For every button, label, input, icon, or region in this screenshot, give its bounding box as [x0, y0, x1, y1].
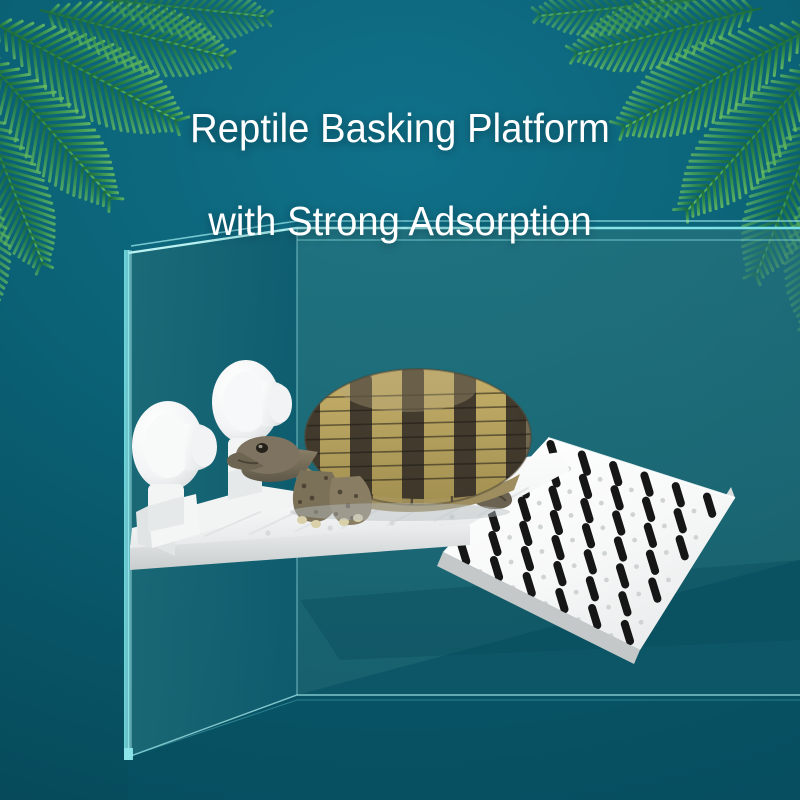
- ramp-dimple: [570, 538, 575, 543]
- ramp-dimple: [639, 620, 644, 625]
- title-line-1: Reptile Basking Platform: [28, 105, 772, 152]
- ramp-dimple: [629, 488, 634, 493]
- ramp-dimple: [632, 538, 637, 543]
- ramp-dimple: [692, 509, 697, 514]
- ramp-dimple: [572, 563, 577, 568]
- title-line-2: with Strong Adsorption: [28, 198, 772, 245]
- ramp-dimple: [664, 550, 669, 555]
- ramp-dimple: [662, 524, 667, 529]
- ramp-dimple: [598, 477, 603, 482]
- ramp-dimple: [599, 501, 604, 506]
- ramp-dimple: [660, 498, 665, 503]
- ramp-dimple: [604, 578, 609, 583]
- ramp-dimple: [537, 501, 542, 506]
- ramp-dimple: [540, 549, 545, 554]
- ramp-dimple: [569, 513, 574, 518]
- ramp-dimple: [507, 535, 512, 540]
- ramp-dimple: [630, 512, 635, 517]
- ramp-dimple: [541, 575, 546, 580]
- page-title: Reptile Basking Platform with Strong Ads…: [0, 58, 800, 292]
- ramp-dimple: [666, 578, 671, 583]
- ramp-dimple: [634, 564, 639, 569]
- ramp-dimple: [606, 605, 611, 610]
- ramp-dimple: [602, 551, 607, 556]
- ramp-dimple: [636, 592, 641, 597]
- ramp-dimple: [574, 590, 579, 595]
- product-banner: Reptile Basking Platform with Strong Ads…: [0, 0, 800, 800]
- ramp-dimple: [600, 525, 605, 530]
- ramp-dimple: [567, 489, 572, 494]
- ramp-dimple: [538, 525, 543, 530]
- ramp-dimple: [694, 535, 699, 540]
- ramp-dimple: [509, 560, 514, 565]
